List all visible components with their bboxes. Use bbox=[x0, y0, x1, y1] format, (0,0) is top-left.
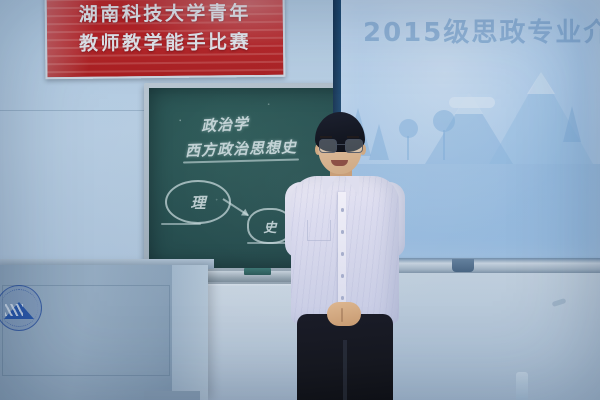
presenting-teacher bbox=[285, 112, 405, 400]
classroom-photo: 湖南科技大学青年 教师教学能手比赛 政治学 西方政治思想史 理 史 鉴 bbox=[0, 0, 600, 400]
shirt-button-3 bbox=[341, 252, 345, 256]
clasped-hands bbox=[327, 302, 361, 326]
glasses-bridge bbox=[335, 144, 345, 145]
right-eyebrow bbox=[347, 136, 359, 138]
shirt-button-4 bbox=[341, 274, 345, 278]
water-bottle bbox=[516, 372, 528, 400]
lectern-foot bbox=[144, 391, 200, 400]
left-lens bbox=[319, 139, 337, 153]
chalk-node-1: 理 bbox=[165, 180, 231, 224]
emblem-stripes bbox=[5, 304, 23, 316]
slide-tree-trunk-1 bbox=[407, 136, 409, 160]
collar-right bbox=[345, 176, 359, 196]
shirt-button-1 bbox=[341, 208, 345, 212]
slide-cloud bbox=[449, 97, 495, 108]
right-lens bbox=[345, 139, 363, 153]
chalk-subheading: 西方政治思想史 bbox=[185, 136, 298, 161]
left-eyebrow bbox=[320, 136, 332, 138]
slide-tree-trunk-2 bbox=[443, 130, 445, 160]
collar-left bbox=[323, 176, 337, 196]
chalk-heading: 政治学 bbox=[200, 113, 249, 136]
trouser-leg-split bbox=[343, 340, 347, 400]
lectern-side-panel bbox=[172, 265, 208, 400]
chalk-underline-node-1 bbox=[161, 223, 201, 225]
blackboard-eraser bbox=[244, 268, 271, 275]
chalk-underline-node-2 bbox=[247, 242, 287, 244]
screen-roller-bracket bbox=[452, 259, 474, 272]
lectern bbox=[0, 265, 208, 400]
hand-crease bbox=[341, 308, 343, 322]
shirt-button-2 bbox=[341, 230, 345, 234]
slide-pine-3 bbox=[563, 106, 581, 142]
shirt-button-5 bbox=[341, 296, 345, 300]
slide-title: 2015级思政专业介 bbox=[363, 12, 600, 49]
red-competition-banner: 湖南科技大学青年 教师教学能手比赛 bbox=[45, 0, 286, 79]
shirt-pocket bbox=[307, 220, 331, 241]
eyeglasses-icon bbox=[318, 139, 362, 151]
banner-line-2: 教师教学能手比赛 bbox=[47, 27, 283, 56]
slide-snowcap-2 bbox=[527, 72, 555, 94]
banner-line-1: 湖南科技大学青年 bbox=[47, 0, 283, 27]
slide-tree-crown-2 bbox=[433, 110, 455, 132]
